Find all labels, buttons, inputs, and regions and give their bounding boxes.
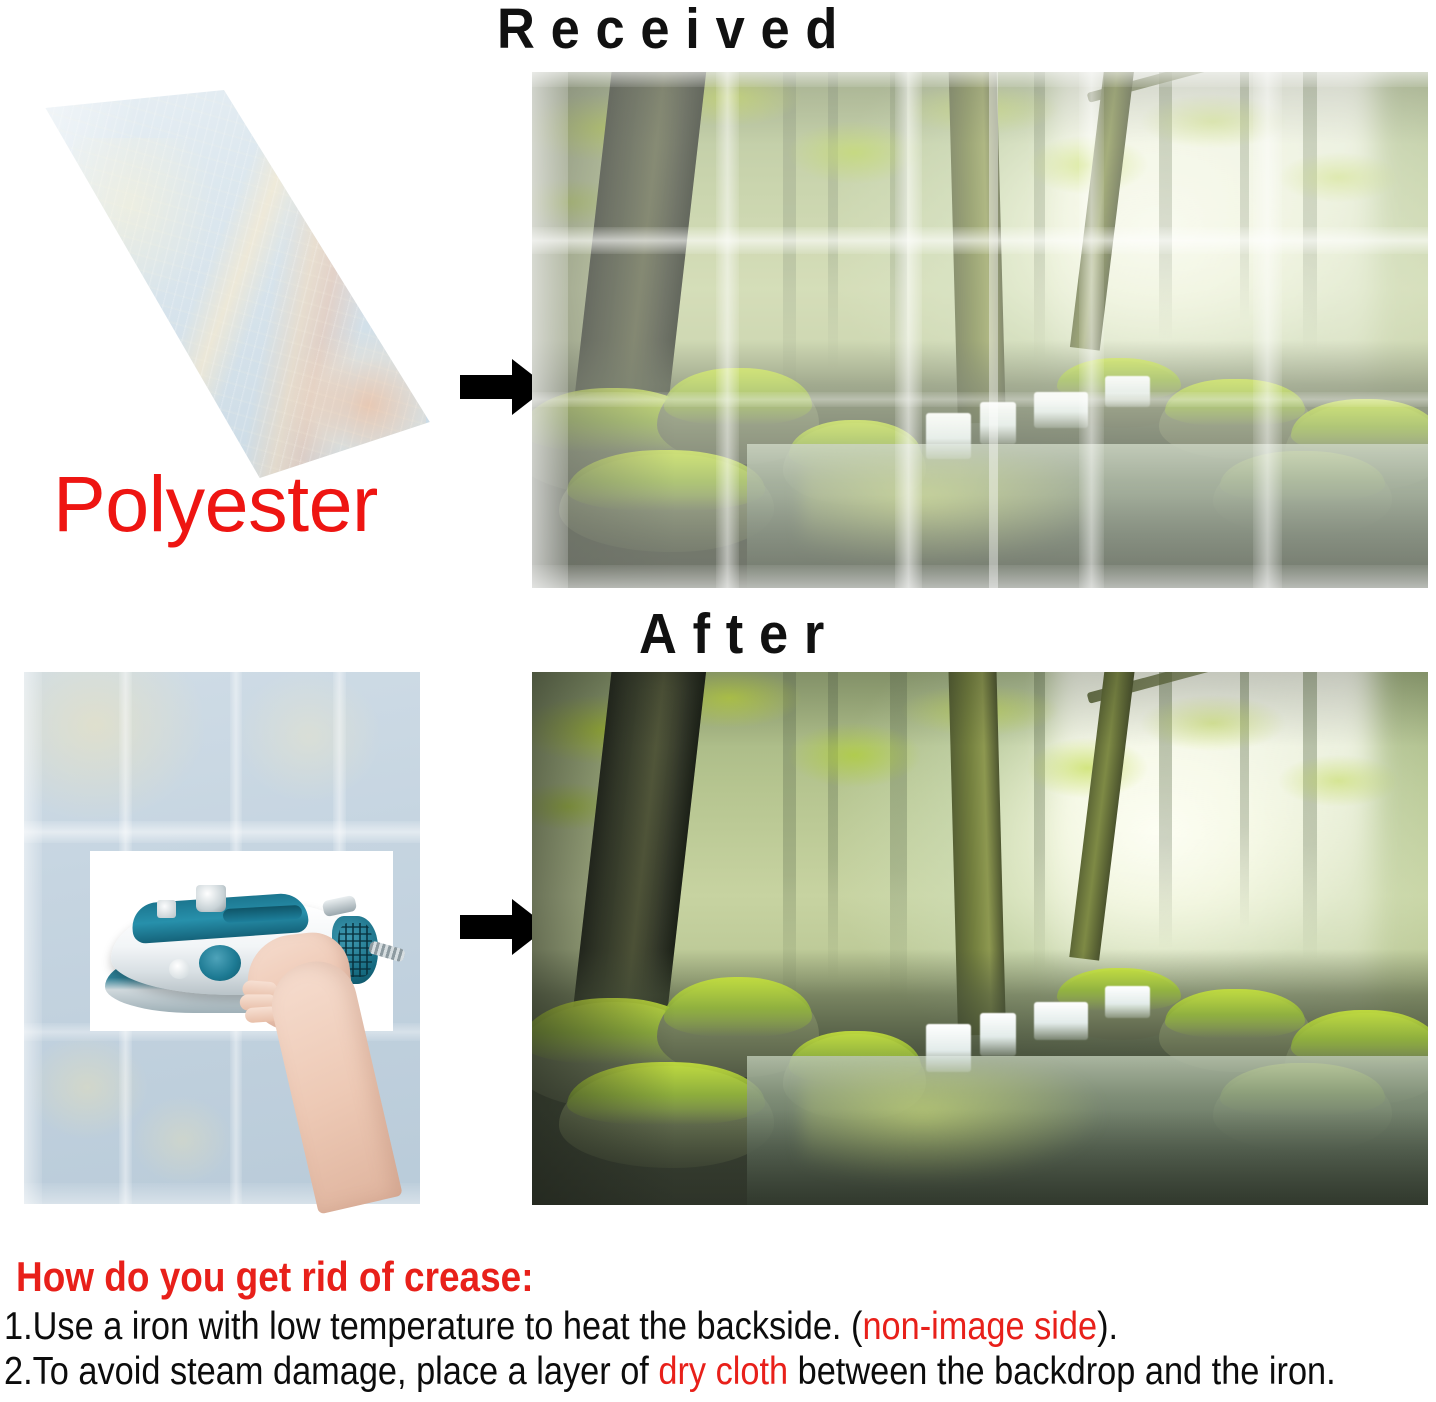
instruction-line-2: 2.To avoid steam damage, place a layer o… (4, 1350, 1336, 1394)
iron-cord-clip (322, 895, 358, 918)
instruction-1-prefix: 1.Use a iron with low temperature to hea… (4, 1305, 862, 1348)
iron-steam-knob (196, 885, 226, 912)
scene-faded-wash (532, 72, 1428, 588)
polyester-label: Polyester (53, 464, 378, 543)
instruction-2-highlight: dry cloth (658, 1350, 788, 1393)
fabric-highlight-top (73, 138, 216, 306)
instruction-1-highlight: non-image side (862, 1305, 1097, 1348)
instruction-2-prefix: 2.To avoid steam damage, place a layer o… (4, 1350, 658, 1393)
forest-scene-creased (532, 72, 1428, 588)
polyester-swatch (14, 82, 434, 482)
section-title-received: Received (497, 0, 853, 62)
section-title-after: After (639, 601, 840, 667)
received-backdrop-photo (532, 72, 1428, 588)
instructions-heading: How do you get rid of crease: (16, 1253, 534, 1301)
instruction-2-suffix: between the backdrop and the iron. (788, 1350, 1336, 1393)
fabric-highlight-bottom (283, 330, 426, 466)
instruction-1-suffix: ). (1097, 1305, 1118, 1348)
iron-spray-button (169, 959, 190, 979)
after-backdrop-photo (532, 672, 1428, 1205)
scene-vignette (532, 672, 1428, 1205)
forest-scene-smooth (532, 672, 1428, 1205)
product-instruction-graphic: Received Polyester (0, 0, 1436, 1402)
iron-front-button (157, 900, 177, 918)
iron-steam-dial (199, 945, 241, 981)
instruction-line-1: 1.Use a iron with low temperature to hea… (4, 1305, 1118, 1349)
folded-fabric-shape (14, 82, 434, 482)
